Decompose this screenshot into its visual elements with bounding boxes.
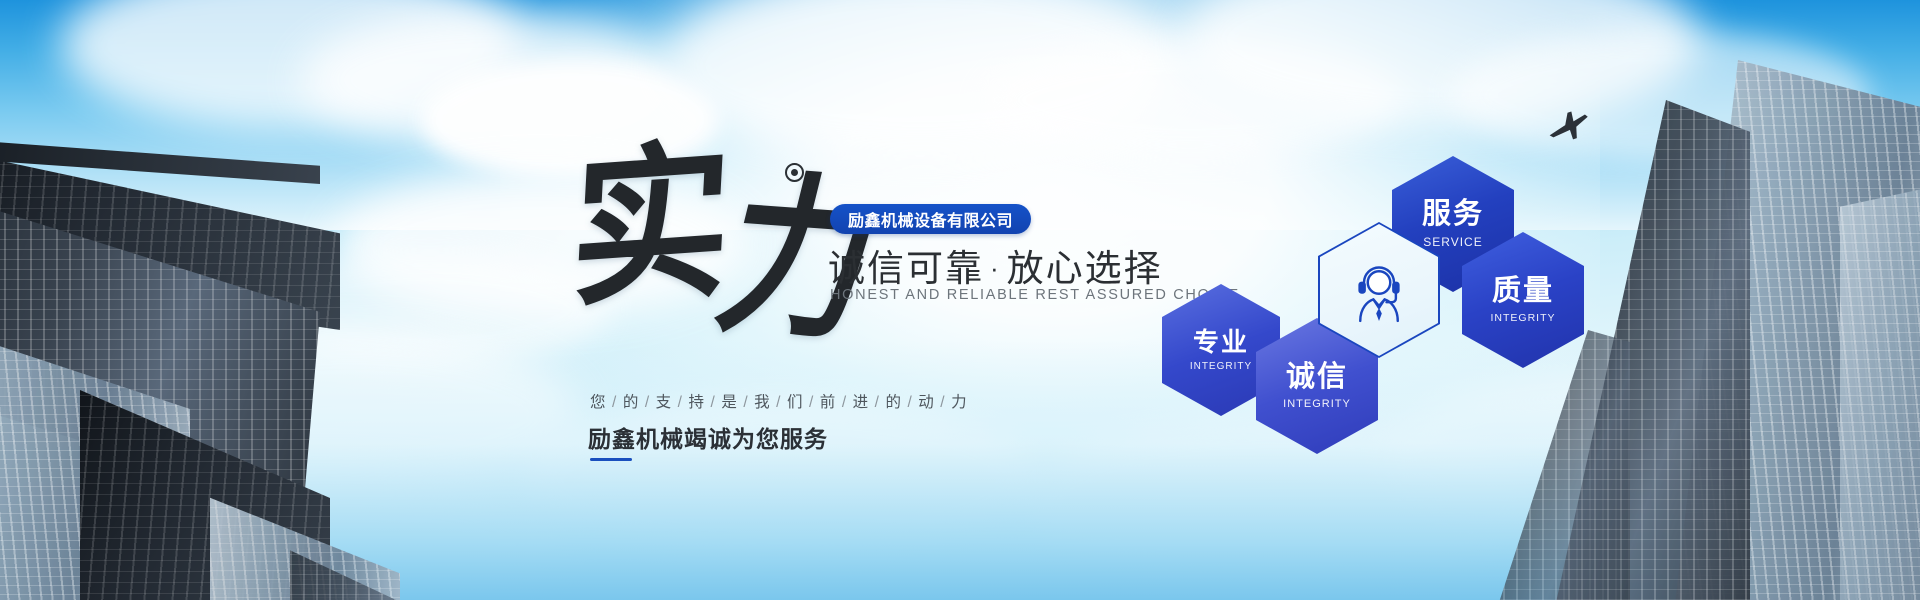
slogan-char-separator: /	[737, 394, 754, 411]
company-name-label: 励鑫机械设备有限公司	[848, 207, 1013, 231]
calligraphy-wordmark: 实 力	[575, 150, 865, 310]
slogan-spaced-line: 您/的/支/持/是/我/们/前/进/的/动/力	[590, 390, 967, 412]
slogan-char: 的	[623, 394, 639, 411]
tagline-separator: ·	[984, 253, 1007, 283]
slogan-char-separator: /	[869, 394, 886, 411]
slogan-char-separator: /	[901, 394, 918, 411]
building-left	[0, 60, 480, 600]
customer-service-agent-icon	[1349, 257, 1409, 323]
hexagon-trust-en: INTEGRITY	[1283, 399, 1351, 410]
tagline: 诚信可靠·放心选择	[828, 238, 1163, 292]
slogan-char: 持	[688, 394, 704, 411]
slogan-char: 是	[721, 394, 737, 411]
slogan-underline	[590, 458, 632, 461]
tagline-part-1: 诚信可靠	[828, 248, 984, 289]
slogan-char: 进	[853, 394, 869, 411]
slogan-char: 前	[820, 394, 836, 411]
slogan-char: 我	[754, 394, 770, 411]
slogan-char: 您	[590, 394, 606, 411]
slogan-char-separator: /	[672, 394, 689, 411]
hexagon-service-cn: 服务	[1422, 200, 1484, 229]
hexagon-service-en: SERVICE	[1423, 236, 1482, 248]
hexagon-quality-cn: 质量	[1492, 277, 1554, 306]
slogan-char: 的	[885, 394, 901, 411]
tagline-english: HONEST AND RELIABLE REST ASSURED CHOICE	[830, 287, 1240, 303]
hexagon-professional-en: INTEGRITY	[1190, 362, 1252, 372]
tagline-part-2: 放心选择	[1007, 248, 1163, 289]
slogan-char-separator: /	[770, 394, 787, 411]
slogan-char-separator: /	[639, 394, 656, 411]
airplane-icon	[1546, 110, 1592, 144]
slogan-char: 们	[787, 394, 803, 411]
hexagon-trust-cn: 诚信	[1286, 363, 1348, 392]
slogan-char: 支	[656, 394, 672, 411]
slogan-char-separator: /	[606, 394, 623, 411]
promotional-banner: 实 力 励鑫机械设备有限公司 诚信可靠·放心选择 HONEST AND RELI…	[0, 0, 1920, 600]
slogan-char-separator: /	[803, 394, 820, 411]
slogan-main-line: 励鑫机械竭诚为您服务	[588, 420, 828, 454]
registered-mark-icon	[785, 163, 804, 182]
slogan-char-separator: /	[934, 394, 951, 411]
calligraphy-char-shi: 实	[567, 136, 735, 317]
slogan-char: 动	[918, 394, 934, 411]
company-name-badge: 励鑫机械设备有限公司	[830, 204, 1031, 234]
slogan-char-separator: /	[705, 394, 722, 411]
hexagon-professional-cn: 专业	[1193, 329, 1249, 355]
slogan-char-separator: /	[836, 394, 853, 411]
hexagon-quality-en: INTEGRITY	[1490, 313, 1555, 324]
slogan-char: 力	[951, 394, 967, 411]
